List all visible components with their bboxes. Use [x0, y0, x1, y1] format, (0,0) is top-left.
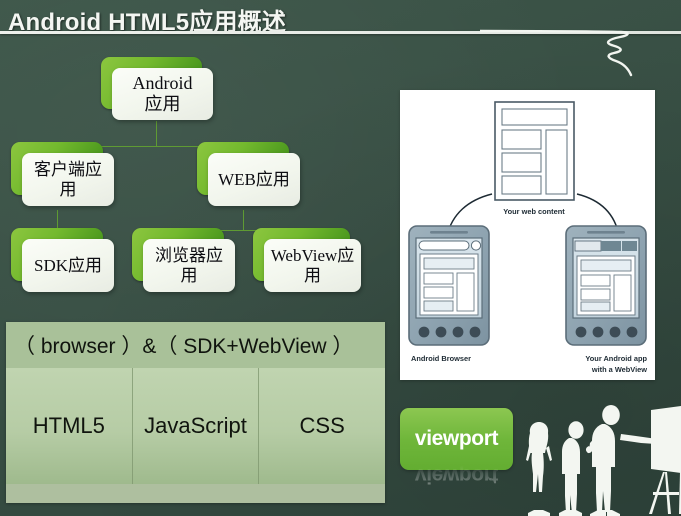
viewport-logo-plate: viewport [400, 408, 513, 470]
silhouette-person-middle-icon [559, 421, 584, 516]
web-content-document-icon [495, 102, 574, 200]
node-label-line2: 用 [34, 180, 102, 199]
silhouette-flipchart-icon [649, 406, 681, 514]
android-browser-device-icon [409, 226, 489, 345]
viewport-wordmark-reflection: viewport [415, 463, 498, 487]
node-label-line1: SDK应用 [34, 256, 102, 275]
viewport-logo: viewport viewport [400, 408, 513, 500]
node-label-line1: Android [133, 73, 193, 94]
node-label-line1: 客户端应 [34, 160, 102, 179]
stack-columns: HTML5 JavaScript CSS [6, 368, 385, 484]
tree-node-web-app[interactable]: WEB应用 [197, 142, 289, 195]
stack-column-css: CSS [259, 368, 385, 484]
webview-app-caption-line1: Your Android app [585, 354, 647, 363]
node-label-wrap: 浏览器应 用 [143, 239, 235, 292]
node-label-line2: 用 [155, 266, 223, 285]
figure-svg: Your web content [400, 90, 655, 380]
node-label-line2: 应用 [133, 94, 193, 115]
tree-node-client-app[interactable]: 客户端应 用 [11, 142, 103, 195]
silhouette-group-icon [517, 388, 681, 516]
stack-footer-band [6, 484, 385, 503]
android-browser-caption: Android Browser [411, 354, 471, 363]
node-label-wrap: Android 应用 [112, 68, 213, 120]
stack-column-html5: HTML5 [6, 368, 133, 484]
viewport-wordmark: viewport [415, 427, 498, 451]
app-taxonomy-tree: Android 应用 客户端应 用 WEB应用 [0, 38, 392, 318]
node-label-wrap: WEB应用 [208, 153, 300, 206]
tree-connector [156, 121, 157, 146]
node-label-wrap: WebView应 用 [264, 239, 361, 292]
tree-node-browser-app[interactable]: 浏览器应 用 [132, 228, 224, 281]
stack-header-label: （ browser ）&（ SDK+WebView ） [6, 322, 385, 368]
node-label-line1: WEB应用 [218, 170, 290, 189]
tree-node-webview-app[interactable]: WebView应 用 [253, 228, 350, 281]
web-content-caption: Your web content [503, 207, 565, 216]
web-stack-panel: （ browser ）&（ SDK+WebView ） HTML5 JavaSc… [6, 322, 385, 503]
android-webview-app-device-icon [566, 226, 646, 345]
squiggle-decoration-icon [480, 18, 650, 80]
node-label-line2: 用 [271, 266, 355, 285]
stack-column-javascript: JavaScript [133, 368, 260, 484]
node-label-wrap: 客户端应 用 [22, 153, 114, 206]
silhouette-presenter-icon [586, 405, 662, 516]
node-label-line1: 浏览器应 [155, 246, 223, 265]
slide-canvas: Android HTML5应用概述 Android 应用 [0, 0, 681, 516]
tree-connector [243, 210, 244, 230]
silhouette-person-left-icon [526, 422, 552, 516]
webview-app-caption-line2: with a WebView [591, 365, 647, 374]
node-label-wrap: SDK应用 [22, 239, 114, 292]
tree-node-android-app[interactable]: Android 应用 [101, 57, 202, 109]
webview-architecture-figure: Your web content [400, 90, 655, 380]
tree-node-sdk-app[interactable]: SDK应用 [11, 228, 103, 281]
node-label-line1: WebView应 [271, 246, 355, 265]
viewport-logo-reflection: viewport [400, 463, 513, 497]
